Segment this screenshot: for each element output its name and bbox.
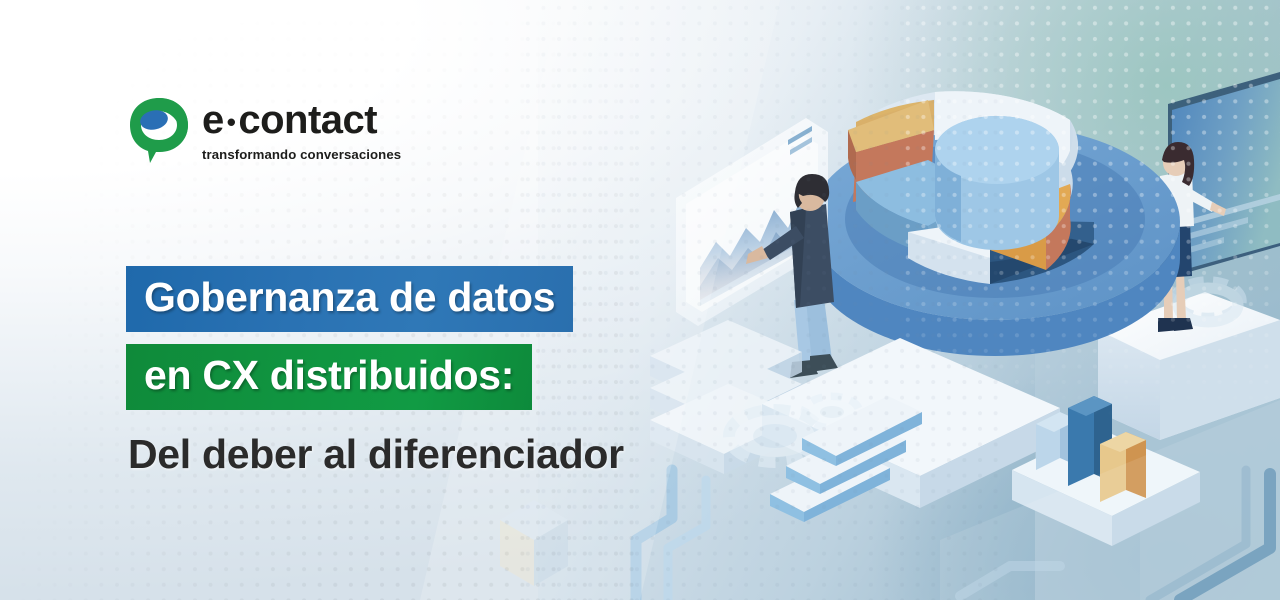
logo-wordmark-contact: contact: [238, 98, 377, 142]
headline-line-3: Del deber al diferenciador: [126, 420, 626, 478]
headline-line-2: en CX distribuidos:: [126, 344, 532, 410]
logo-tagline: transformando conversaciones: [202, 147, 401, 162]
headline-line-1: Gobernanza de datos: [126, 266, 573, 332]
brand-logo[interactable]: e•contact transformando conversaciones: [128, 96, 401, 164]
logo-wordmark-separator: •: [224, 107, 239, 137]
econtact-leaf-speech-bubble-logo: [128, 96, 190, 164]
dot-pattern-right: [900, 0, 1280, 420]
headline-line-3-wrap: Del deber al diferenciador: [126, 410, 626, 478]
logo-wordmark: e•contact: [202, 100, 401, 140]
headline-line-1-wrap: Gobernanza de datos: [126, 266, 626, 332]
marketing-banner: e•contact transformando conversaciones G…: [0, 0, 1280, 600]
headline-line-2-wrap: en CX distribuidos:: [126, 332, 626, 410]
headline-block: Gobernanza de datos en CX distribuidos: …: [126, 266, 626, 478]
logo-wordmark-e: e: [202, 98, 224, 142]
